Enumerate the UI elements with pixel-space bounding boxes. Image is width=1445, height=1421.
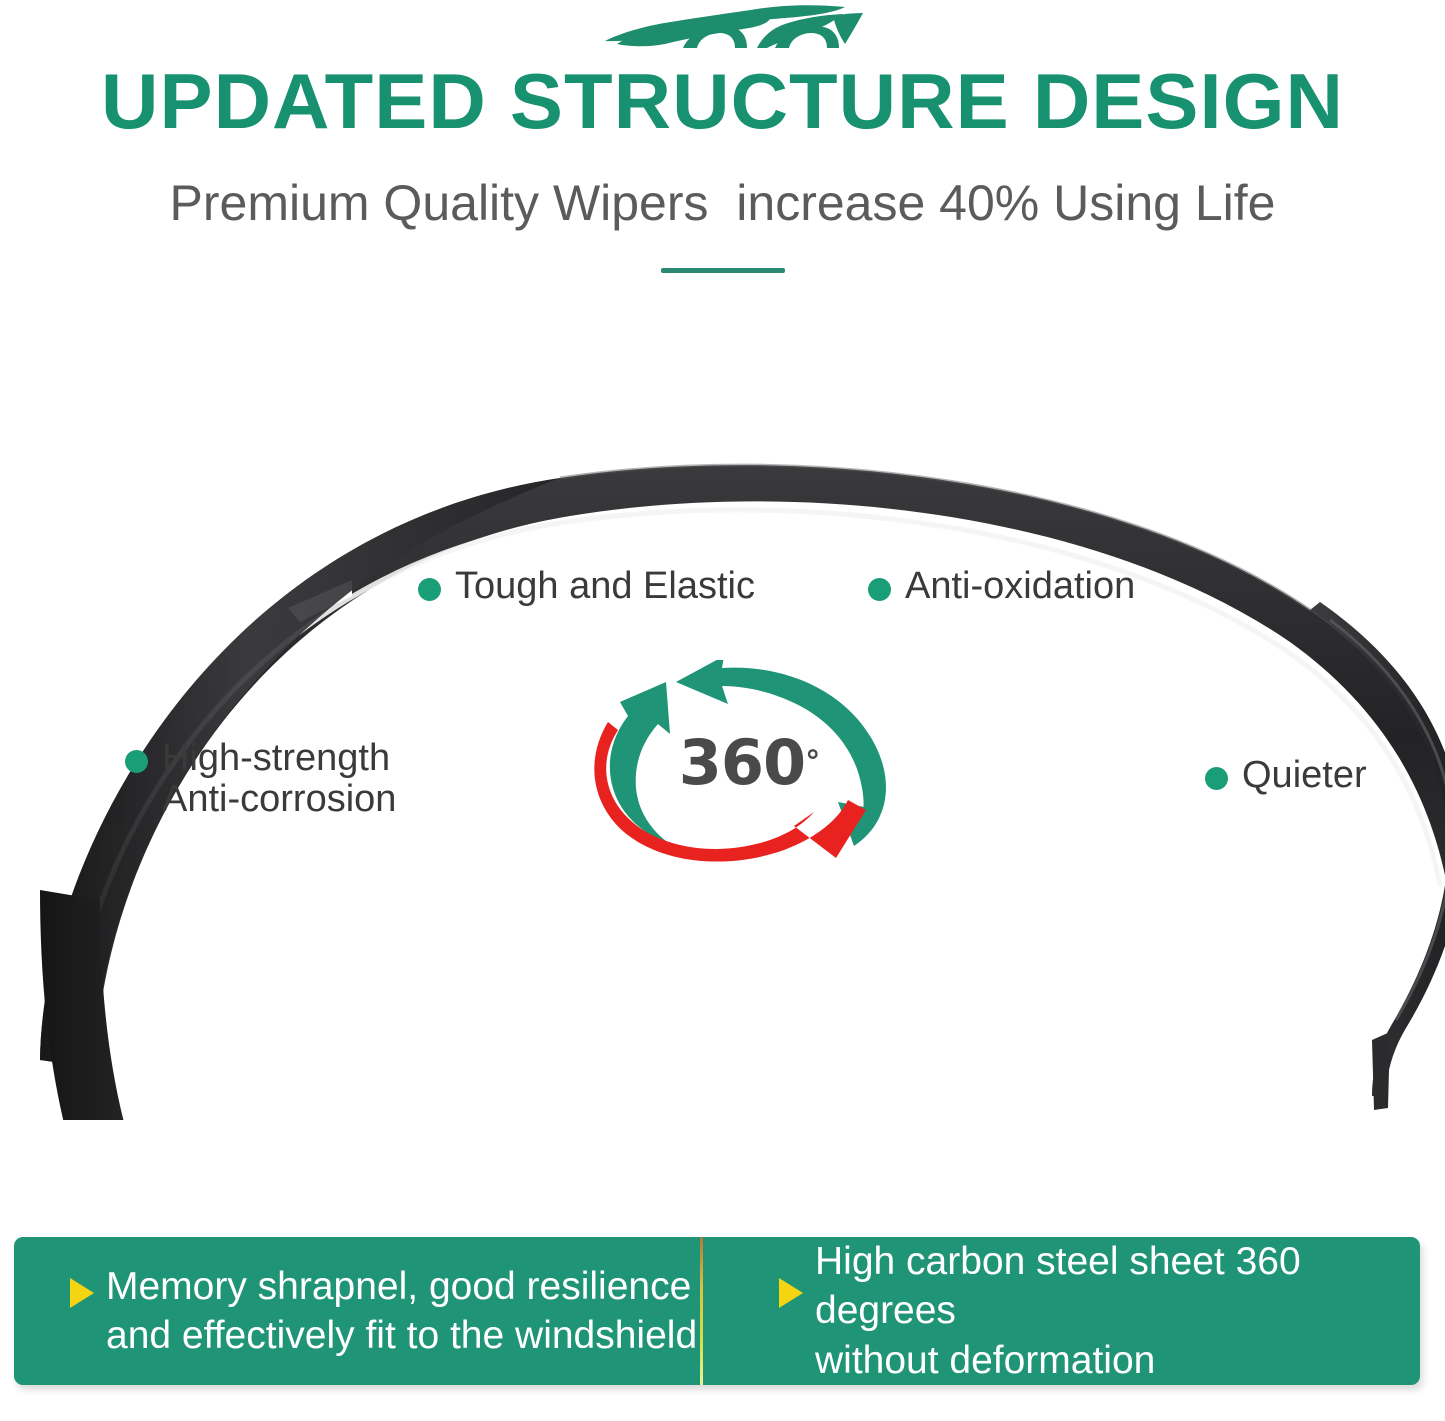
- feature-label-high-strength-anti-corrosion: High-strength Anti-corrosion: [125, 738, 396, 820]
- feature-label-text: Tough and Elastic: [455, 566, 755, 607]
- feature-label-quieter: Quieter: [1205, 755, 1367, 796]
- bullet-dot-icon: [125, 750, 148, 773]
- feature-label-text: Quieter: [1242, 755, 1367, 796]
- bottom-feature-banner: Memory shrapnel, good resilience and eff…: [14, 1237, 1420, 1385]
- triangle-bullet-icon: [70, 1278, 94, 1308]
- banner-divider: [700, 1237, 703, 1385]
- badge-360-degree: 360°: [570, 660, 920, 865]
- feature-label-text: Anti-oxidation: [905, 566, 1135, 607]
- banner-item-text: Memory shrapnel, good resilience and eff…: [106, 1262, 697, 1360]
- title-divider: [661, 268, 785, 273]
- feature-label-anti-oxidation: Anti-oxidation: [868, 566, 1135, 607]
- bullet-dot-icon: [1205, 767, 1228, 790]
- banner-item-high-carbon-steel: High carbon steel sheet 360 degrees with…: [717, 1237, 1420, 1385]
- banner-item-memory-shrapnel: Memory shrapnel, good resilience and eff…: [14, 1237, 717, 1385]
- bullet-dot-icon: [418, 578, 441, 601]
- page-subtitle: Premium Quality Wipers increase 40% Usin…: [0, 176, 1445, 231]
- bullet-dot-icon: [868, 578, 891, 601]
- feature-label-text: High-strength Anti-corrosion: [162, 738, 396, 820]
- product-infographic-page: UPDATED STRUCTURE DESIGN Premium Quality…: [0, 0, 1445, 1421]
- triangle-bullet-icon: [779, 1278, 803, 1308]
- car-silhouette-icon: [597, 4, 865, 56]
- feature-label-tough-and-elastic: Tough and Elastic: [418, 566, 755, 607]
- banner-item-text: High carbon steel sheet 360 degrees with…: [815, 1237, 1420, 1384]
- page-title: UPDATED STRUCTURE DESIGN: [0, 62, 1445, 140]
